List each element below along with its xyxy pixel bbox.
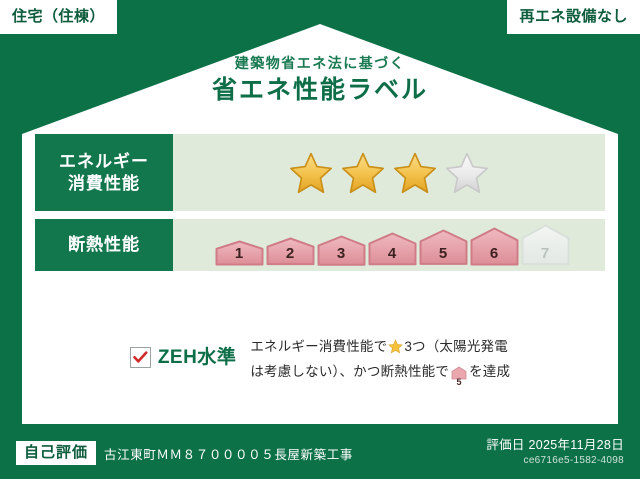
zeh-desc-part3: を達成 — [469, 364, 510, 379]
energy-label-line2: 消費性能 — [68, 173, 140, 194]
zeh-checkbox-group[interactable]: ZEH水準 — [130, 336, 237, 368]
evaluation-date: 評価日 2025年11月28日 — [486, 438, 624, 454]
inline-star-icon — [388, 339, 403, 361]
insulation-grade-number: 2 — [266, 246, 315, 261]
insulation-grade-scale: 1234567 — [209, 224, 570, 266]
insulation-grade-number: 6 — [470, 246, 519, 261]
energy-performance-label: いい部屋ネット 住宅（住棟） 再エネ設備なし 建築物省エネ法に基づく 省エネ性能… — [0, 0, 640, 479]
title-subtitle: 建築物省エネ法に基づく — [0, 56, 640, 70]
insulation-grade-badge: 2 — [266, 237, 315, 266]
insulation-grade-number: 3 — [317, 246, 366, 261]
insulation-grade-badge: 7 — [521, 224, 570, 266]
insulation-grade-badge: 5 — [419, 229, 468, 265]
footer-left: 自己評価 古江東町ＭＭ８７００００５長屋新築工事 — [0, 441, 353, 465]
energy-label-line1: エネルギー — [59, 151, 149, 172]
zeh-desc-stars: 3つ（太陽光発電 — [404, 339, 508, 354]
check-icon — [133, 351, 148, 364]
self-evaluation-badge: 自己評価 — [16, 441, 96, 465]
insulation-grade-badge: 6 — [470, 227, 519, 266]
renewable-equipment-tag: 再エネ設備なし — [507, 0, 640, 34]
title-main: 省エネ性能ラベル — [0, 78, 640, 103]
energy-performance-label: エネルギー 消費性能 — [35, 134, 173, 211]
zeh-description: エネルギー消費性能で3つ（太陽光発電 は考慮しない）、かつ断熱性能で5を達成 — [250, 336, 510, 388]
insulation-grade-badge: 3 — [317, 235, 366, 266]
footer-right: 評価日 2025年11月28日 ce6716e5-1582-4098 — [486, 438, 640, 468]
zeh-section: ZEH水準 エネルギー消費性能で3つ（太陽光発電 は考慮しない）、かつ断熱性能で… — [35, 336, 605, 388]
label-footer: 自己評価 古江東町ＭＭ８７００００５長屋新築工事 評価日 2025年11月28日… — [0, 427, 640, 479]
star-filled-icon — [393, 151, 437, 195]
zeh-desc-part2: は考慮しない）、かつ断熱性能で — [250, 364, 449, 379]
evaluation-id: ce6716e5-1582-4098 — [486, 454, 624, 468]
insulation-performance-value: 1234567 — [173, 219, 605, 271]
insulation-grade-badge: 1 — [215, 240, 264, 266]
label-title-block: 建築物省エネ法に基づく 省エネ性能ラベル — [0, 56, 640, 103]
zeh-desc-part1: エネルギー消費性能で — [250, 339, 387, 354]
insulation-label-line1: 断熱性能 — [68, 234, 140, 255]
inline-house-grade: 5 — [451, 378, 467, 387]
star-empty-icon — [445, 151, 489, 195]
insulation-performance-row: 断熱性能 1234567 — [35, 219, 605, 271]
inline-house-badge: 5 — [451, 365, 467, 387]
zeh-checkbox[interactable] — [130, 347, 151, 368]
rating-rows: エネルギー 消費性能 断熱性能 1234567 — [35, 134, 605, 271]
building-type-tag: 住宅（住棟） — [0, 0, 117, 34]
star-rating — [289, 151, 489, 195]
insulation-grade-badge: 4 — [368, 232, 417, 266]
insulation-grade-number: 5 — [419, 246, 468, 261]
project-name: 古江東町ＭＭ８７００００５長屋新築工事 — [104, 444, 353, 463]
star-filled-icon — [289, 151, 333, 195]
insulation-performance-label: 断熱性能 — [35, 219, 173, 271]
energy-performance-value — [173, 134, 605, 211]
insulation-grade-number: 1 — [215, 246, 264, 261]
insulation-grade-number: 4 — [368, 246, 417, 261]
insulation-grade-number: 7 — [521, 246, 570, 261]
star-filled-icon — [341, 151, 385, 195]
energy-performance-row: エネルギー 消費性能 — [35, 134, 605, 211]
zeh-label: ZEH水準 — [158, 348, 237, 367]
